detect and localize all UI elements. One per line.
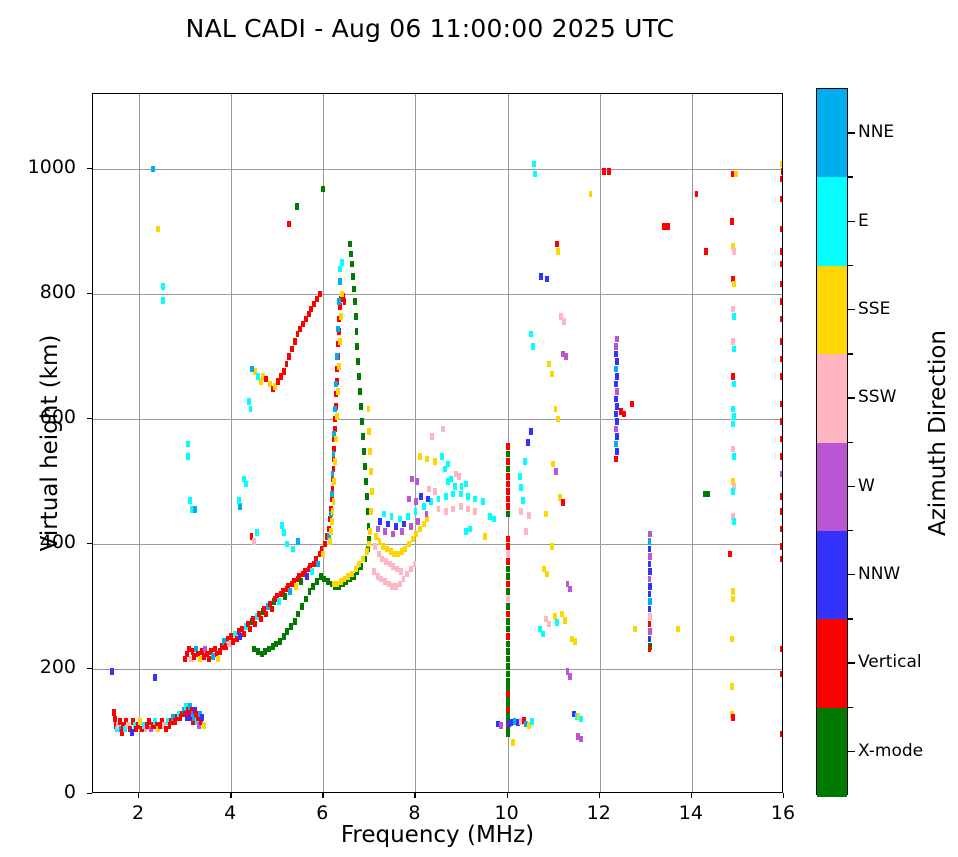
echo-point <box>433 488 437 495</box>
echo-point <box>506 581 510 588</box>
echo-point <box>367 406 371 413</box>
echo-point <box>648 576 652 583</box>
y-tick-label: 1000 <box>0 156 76 178</box>
echo-point <box>253 621 257 628</box>
echo-point <box>589 191 593 198</box>
echo-point <box>437 506 441 513</box>
colorbar-tick <box>848 486 855 487</box>
echo-point <box>277 598 281 605</box>
echo-point <box>780 471 782 478</box>
echo-point <box>730 218 734 225</box>
echo-point <box>554 468 558 475</box>
echo-point <box>338 266 342 273</box>
y-tick <box>87 793 92 794</box>
echo-point <box>506 466 510 473</box>
echo-point <box>732 381 736 388</box>
echo-point <box>648 613 652 620</box>
echo-point <box>249 406 253 413</box>
echo-point <box>365 493 369 500</box>
colorbar-segment-nne <box>817 89 847 178</box>
echo-point <box>237 497 241 504</box>
echo-point <box>295 203 299 210</box>
echo-point <box>780 671 782 678</box>
echo-point <box>354 566 358 573</box>
echo-point <box>544 511 548 518</box>
echo-point <box>315 578 319 585</box>
echo-point <box>328 538 332 545</box>
echo-point <box>780 731 782 738</box>
echo-point <box>506 678 510 685</box>
echo-point <box>338 278 342 285</box>
echo-point <box>506 536 510 543</box>
echo-point <box>437 496 441 503</box>
echo-point <box>780 401 782 408</box>
echo-point <box>648 583 652 590</box>
echo-point <box>468 526 472 533</box>
echo-point <box>382 511 386 518</box>
x-tick <box>322 793 323 798</box>
x-tick <box>599 793 600 798</box>
echo-point <box>614 366 618 373</box>
echo-point <box>529 331 533 338</box>
echo-point <box>364 478 368 485</box>
echo-point <box>451 491 455 498</box>
echo-point <box>506 451 510 458</box>
echo-point <box>360 418 364 425</box>
echo-point <box>337 298 341 305</box>
echo-point <box>731 488 735 495</box>
echo-point <box>407 496 411 503</box>
colorbar-segment-e <box>817 177 847 266</box>
echo-point <box>414 498 418 505</box>
colorbar-label-ssw: SSW <box>858 387 896 407</box>
echo-point <box>730 636 734 643</box>
echo-point <box>506 603 510 610</box>
echo-point <box>362 448 366 455</box>
echo-point <box>732 346 736 353</box>
echo-point <box>427 486 431 493</box>
echo-point <box>352 286 356 293</box>
echo-point <box>464 481 468 488</box>
echo-point <box>483 533 487 540</box>
colorbar-boundary-tick <box>848 176 853 177</box>
echo-point <box>506 663 510 670</box>
echo-point <box>430 433 434 440</box>
echo-point <box>529 428 533 435</box>
x-tick <box>783 793 784 798</box>
echo-point <box>422 503 426 510</box>
echo-point <box>506 671 510 678</box>
echo-point <box>316 561 320 568</box>
echo-point <box>151 166 155 173</box>
echo-point <box>216 656 220 663</box>
echo-point <box>386 521 390 528</box>
gridline-vertical <box>231 94 232 792</box>
echo-point <box>731 338 735 345</box>
echo-point <box>418 453 422 460</box>
echo-point <box>530 718 534 725</box>
echo-point <box>554 406 558 413</box>
gridline-horizontal <box>93 669 782 670</box>
y-tick <box>87 668 92 669</box>
colorbar-title: Azimuth Direction <box>925 273 951 593</box>
echo-point <box>376 526 380 533</box>
echo-point <box>648 591 652 598</box>
echo-point <box>780 646 782 653</box>
echo-point <box>335 581 339 588</box>
colorbar-tick <box>848 574 855 575</box>
echo-point <box>267 646 271 653</box>
echo-point <box>506 558 510 565</box>
echo-point <box>523 458 527 465</box>
colorbar-label-nne: NNE <box>858 122 894 142</box>
echo-point <box>780 373 782 380</box>
echo-point <box>330 518 334 525</box>
echo-point <box>556 416 560 423</box>
echo-point <box>499 722 503 729</box>
echo-point <box>321 551 325 558</box>
x-tick-label: 16 <box>753 802 813 824</box>
echo-point <box>648 568 652 575</box>
echo-point <box>355 343 359 350</box>
echo-point <box>473 508 477 515</box>
echo-point <box>457 473 461 480</box>
echo-point <box>506 551 510 558</box>
echo-point <box>780 338 782 345</box>
echo-point <box>410 476 414 483</box>
colorbar-tick <box>848 397 855 398</box>
echo-point <box>607 168 611 175</box>
echo-point <box>731 373 735 380</box>
data-canvas <box>93 94 782 792</box>
echo-point <box>425 511 429 518</box>
echo-point <box>731 406 735 413</box>
echo-point <box>648 646 652 653</box>
echo-point <box>260 651 264 658</box>
echo-point <box>426 496 430 503</box>
echo-point <box>247 398 251 405</box>
echo-point <box>506 691 510 698</box>
echo-point <box>248 626 252 633</box>
echo-point <box>406 513 410 520</box>
echo-point <box>318 291 322 298</box>
echo-point <box>330 491 334 498</box>
x-tick-label: 4 <box>200 802 260 824</box>
echo-point <box>550 543 554 550</box>
echo-point <box>252 538 256 545</box>
echo-point <box>526 439 530 446</box>
echo-point <box>274 641 278 648</box>
y-tick <box>87 543 92 544</box>
colorbar-boundary-tick <box>848 442 853 443</box>
colorbar-label-sse: SSE <box>858 299 890 319</box>
echo-point <box>256 373 260 380</box>
colorbar-tick <box>848 662 855 663</box>
echo-point <box>351 273 355 280</box>
echo-point <box>731 446 735 453</box>
echo-point <box>433 458 437 465</box>
echo-point <box>363 463 367 470</box>
echo-point <box>383 528 387 535</box>
echo-point <box>283 593 287 600</box>
echo-point <box>780 453 782 460</box>
echo-point <box>446 461 450 468</box>
echo-point <box>547 621 551 628</box>
colorbar-tick <box>848 751 855 752</box>
echo-point <box>527 512 531 519</box>
echo-point <box>402 521 406 528</box>
echo-point <box>555 619 559 626</box>
echo-point <box>531 343 535 350</box>
echo-point <box>340 259 344 266</box>
echo-point <box>444 508 448 515</box>
echo-point <box>329 528 333 535</box>
echo-point <box>615 388 619 395</box>
echo-point <box>293 338 297 345</box>
gridline-vertical <box>600 94 601 792</box>
echo-point <box>614 456 618 463</box>
echo-point <box>614 343 618 350</box>
echo-point <box>357 561 361 568</box>
echo-point <box>780 493 782 500</box>
echo-point <box>339 313 343 320</box>
echo-point <box>734 171 738 178</box>
echo-point <box>533 171 537 178</box>
colorbar-segment-w <box>817 443 847 532</box>
x-tick <box>507 793 508 798</box>
echo-point <box>615 418 619 425</box>
echo-point <box>335 413 339 420</box>
echo-point <box>440 453 444 460</box>
colorbar-tick <box>848 309 855 310</box>
gridline-horizontal <box>93 544 782 545</box>
gridline-vertical <box>323 94 324 792</box>
echo-point <box>287 353 291 360</box>
x-tick-label: 14 <box>661 802 721 824</box>
echo-point <box>255 529 259 536</box>
echo-point <box>731 596 735 603</box>
echo-point <box>506 566 510 573</box>
echo-point <box>648 561 652 568</box>
echo-point <box>541 631 545 638</box>
echo-point <box>706 491 710 498</box>
echo-point <box>358 388 362 395</box>
echo-point <box>563 617 567 624</box>
echo-point <box>339 578 343 585</box>
echo-point <box>263 648 267 655</box>
echo-point <box>615 448 619 455</box>
colorbar-segment-x-mode <box>817 708 847 797</box>
echo-point <box>270 606 274 613</box>
colorbar-label-w: W <box>858 476 875 496</box>
echo-point <box>300 603 304 610</box>
echo-point <box>518 473 522 480</box>
echo-point <box>326 578 330 585</box>
echo-point <box>368 528 372 535</box>
colorbar-label-e: E <box>858 211 869 231</box>
gridline-vertical <box>692 94 693 792</box>
echo-point <box>238 503 242 510</box>
echo-point <box>343 576 347 583</box>
echo-point <box>291 546 295 553</box>
echo-point <box>780 261 782 268</box>
echo-point <box>308 588 312 595</box>
echo-point <box>378 518 382 525</box>
echo-point <box>332 581 336 588</box>
echo-point <box>413 561 417 568</box>
echo-point <box>545 571 549 578</box>
echo-point <box>370 488 374 495</box>
echo-point <box>506 503 510 510</box>
echo-point <box>614 426 618 433</box>
echo-point <box>336 388 340 395</box>
echo-point <box>193 506 197 513</box>
echo-point <box>161 283 165 290</box>
echo-point <box>186 441 190 448</box>
echo-point <box>506 656 510 663</box>
echo-point <box>545 276 549 283</box>
echo-point <box>614 381 618 388</box>
echo-point <box>186 453 190 460</box>
echo-point <box>348 241 352 248</box>
colorbar-tick <box>848 132 855 133</box>
echo-point <box>780 356 782 363</box>
echo-point <box>338 338 342 345</box>
echo-point <box>780 248 782 255</box>
echo-point <box>311 583 315 590</box>
echo-point <box>506 684 510 691</box>
echo-point <box>506 626 510 633</box>
echo-point <box>732 313 736 320</box>
echo-point <box>731 306 735 313</box>
echo-point <box>280 522 284 529</box>
echo-point <box>419 493 423 500</box>
echo-point <box>334 436 338 443</box>
plot-area <box>92 93 783 793</box>
echo-point <box>331 508 335 515</box>
echo-point <box>780 556 782 563</box>
echo-point <box>556 248 560 255</box>
echo-point <box>350 571 354 578</box>
echo-point <box>242 631 246 638</box>
echo-point <box>622 411 626 418</box>
echo-point <box>780 543 782 550</box>
echo-point <box>285 541 289 548</box>
echo-point <box>453 483 457 490</box>
echo-point <box>449 476 453 483</box>
echo-point <box>614 351 618 358</box>
echo-point <box>353 298 357 305</box>
echo-point <box>506 596 510 603</box>
echo-point <box>332 478 336 485</box>
echo-point <box>561 499 565 506</box>
echo-point <box>244 481 248 488</box>
echo-point <box>780 316 782 323</box>
echo-point <box>602 168 606 175</box>
echo-point <box>780 298 782 305</box>
echo-point <box>648 531 652 538</box>
x-tick-label: 6 <box>292 802 352 824</box>
echo-point <box>310 568 314 575</box>
echo-point <box>441 426 445 433</box>
echo-point <box>532 161 536 168</box>
echo-point <box>343 298 347 305</box>
echo-point <box>256 648 260 655</box>
echo-point <box>473 496 477 503</box>
echo-point <box>110 668 114 675</box>
echo-point <box>506 481 510 488</box>
colorbar-tick <box>848 221 855 222</box>
x-tick <box>414 793 415 798</box>
x-tick <box>230 793 231 798</box>
echo-point <box>288 588 292 595</box>
x-tick <box>691 793 692 798</box>
echo-point <box>322 576 326 583</box>
figure-title: NAL CADI - Aug 06 11:00:00 2025 UTC <box>0 14 860 43</box>
echo-point <box>414 508 418 515</box>
echo-point <box>354 313 358 320</box>
echo-point <box>781 168 782 175</box>
echo-point <box>415 478 419 485</box>
echo-point <box>130 729 134 736</box>
echo-point <box>466 493 470 500</box>
echo-point <box>398 516 402 523</box>
echo-point <box>394 523 398 530</box>
echo-point <box>361 433 365 440</box>
echo-point <box>492 516 496 523</box>
echo-point <box>732 453 736 460</box>
echo-point <box>506 443 510 450</box>
colorbar <box>816 88 848 795</box>
echo-point <box>373 543 377 550</box>
echo-point <box>648 546 652 553</box>
echo-point <box>506 496 510 503</box>
echo-point <box>780 526 782 533</box>
echo-point <box>346 573 350 580</box>
echo-point <box>506 648 510 655</box>
echo-point <box>444 493 448 500</box>
y-tick <box>87 418 92 419</box>
echo-point <box>296 538 300 545</box>
echo-point <box>630 401 634 408</box>
echo-point <box>780 436 782 443</box>
echo-point <box>333 458 337 465</box>
echo-point <box>333 406 337 413</box>
echo-point <box>550 371 554 378</box>
echo-point <box>481 498 485 505</box>
echo-point <box>648 621 652 628</box>
echo-point <box>264 611 268 618</box>
echo-point <box>579 736 583 743</box>
colorbar-boundary-tick <box>848 707 853 708</box>
echo-point <box>524 528 528 535</box>
echo-point <box>334 381 338 388</box>
echo-point <box>331 471 335 478</box>
echo-point <box>614 441 618 448</box>
echo-point <box>648 538 652 545</box>
echo-point <box>359 403 363 410</box>
echo-point <box>250 366 254 373</box>
echo-point <box>409 523 413 530</box>
echo-point <box>332 451 336 458</box>
echo-point <box>282 368 286 375</box>
echo-point <box>459 491 463 498</box>
echo-point <box>780 161 782 168</box>
echo-point <box>695 191 699 198</box>
echo-point <box>568 673 572 680</box>
echo-point <box>349 251 353 258</box>
echo-point <box>506 641 510 648</box>
